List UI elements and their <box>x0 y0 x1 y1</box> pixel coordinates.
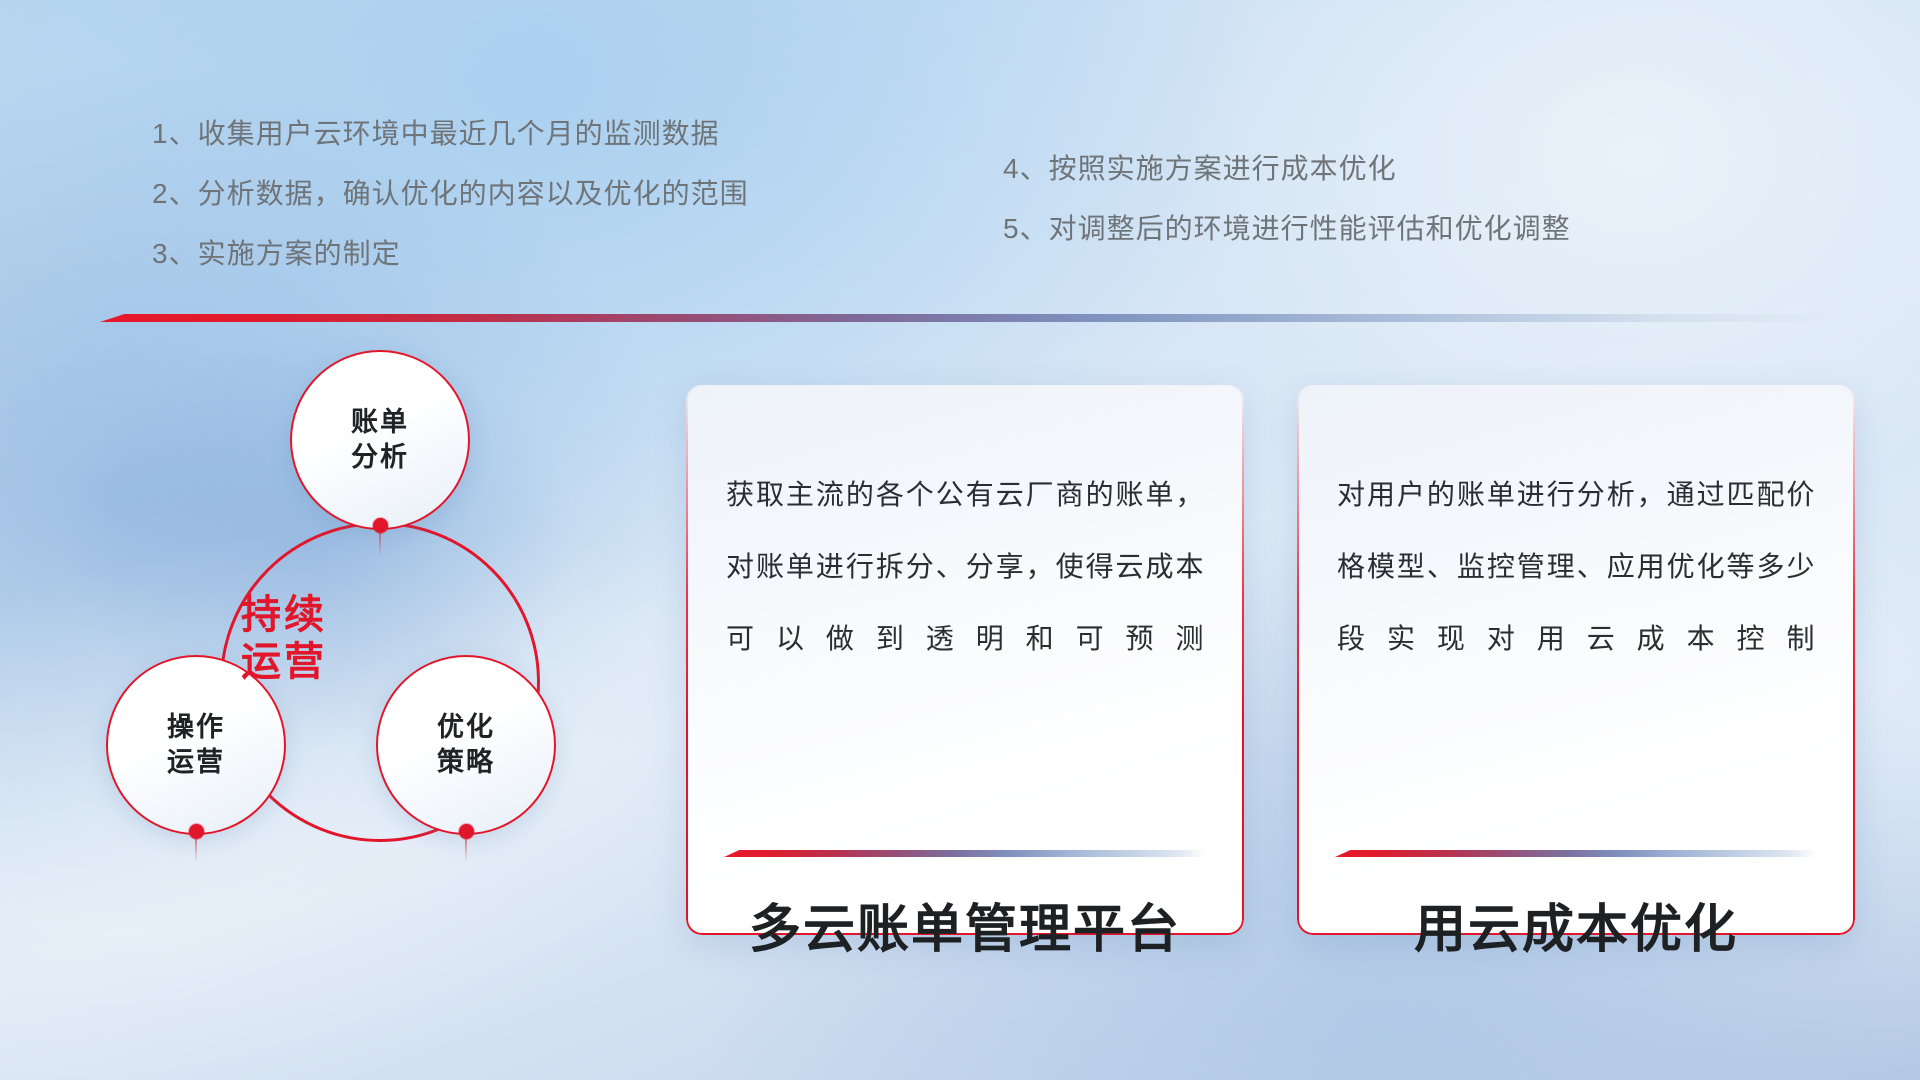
process-step-item: 4、按照实施方案进行成本优化 <box>1003 155 1571 183</box>
diagram-node-tail <box>465 838 467 862</box>
diagram-bubble-bill-analysis[interactable]: 账单 分析 <box>290 350 470 530</box>
diagram-center-label-line2: 运营 <box>174 639 394 686</box>
feature-card-description: 对用户的账单进行分析，通过匹配价格模型、监控管理、应用优化等多少段实现对用云成本… <box>1337 459 1815 675</box>
diagram-bubble-optimization-strategy[interactable]: 优化 策略 <box>376 655 556 835</box>
process-step-item: 1、收集用户云环境中最近几个月的监测数据 <box>152 120 749 148</box>
diagram-bubble-label-line1: 操作 <box>167 710 225 745</box>
process-steps-left-column: 1、收集用户云环境中最近几个月的监测数据 2、分析数据，确认优化的内容以及优化的… <box>152 120 749 268</box>
diagram-bubble-label-line2: 分析 <box>351 440 409 475</box>
feature-card-title: 用云成本优化 <box>1297 887 1855 962</box>
diagram-node-dot <box>459 824 474 839</box>
feature-card-rule <box>1335 850 1817 857</box>
feature-card-cloud-cost-optimization[interactable]: 对用户的账单进行分析，通过匹配价格模型、监控管理、应用优化等多少段实现对用云成本… <box>1297 385 1855 935</box>
slide-canvas: 1、收集用户云环境中最近几个月的监测数据 2、分析数据，确认优化的内容以及优化的… <box>0 0 1920 1080</box>
process-steps-right-column: 4、按照实施方案进行成本优化 5、对调整后的环境进行性能评估和优化调整 <box>1003 155 1571 243</box>
feature-card-description: 获取主流的各个公有云厂商的账单，对账单进行拆分、分享，使得云成本可以做到透明和可… <box>726 459 1204 675</box>
diagram-node-tail <box>379 532 381 556</box>
diagram-center-label-line1: 持续 <box>174 592 394 639</box>
section-divider <box>100 314 1845 322</box>
diagram-bubble-label-line2: 运营 <box>167 745 225 780</box>
diagram-node-dot <box>373 518 388 533</box>
diagram-bubble-label-line1: 优化 <box>437 710 495 745</box>
feature-card-rule <box>724 850 1206 857</box>
diagram-bubble-label-line1: 账单 <box>351 405 409 440</box>
diagram-node-tail <box>195 838 197 862</box>
section-divider-bar <box>100 314 1845 322</box>
process-step-item: 5、对调整后的环境进行性能评估和优化调整 <box>1003 215 1571 243</box>
diagram-center-label: 持续 运营 <box>174 592 394 686</box>
feature-card-title: 多云账单管理平台 <box>686 887 1244 962</box>
feature-card-multicloud-billing[interactable]: 获取主流的各个公有云厂商的账单，对账单进行拆分、分享，使得云成本可以做到透明和可… <box>686 385 1244 935</box>
process-step-item: 3、实施方案的制定 <box>152 240 749 268</box>
diagram-node-dot <box>189 824 204 839</box>
diagram-bubble-label-line2: 策略 <box>437 745 495 780</box>
process-step-item: 2、分析数据，确认优化的内容以及优化的范围 <box>152 180 749 208</box>
